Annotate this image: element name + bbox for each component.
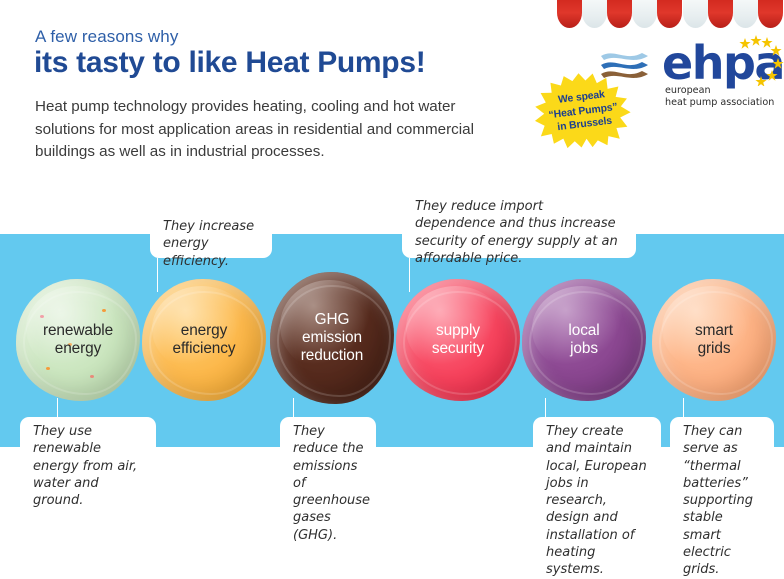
scoop-label-energy-efficiency: energy efficiency [142, 279, 266, 401]
eu-stars-icon [728, 34, 784, 86]
logo-tagline-line1: european [665, 85, 774, 97]
scoop-label-line: GHG [301, 311, 363, 329]
scoop-energy-efficiency: energy efficiency [142, 279, 266, 401]
scoop-row: renewable energy energy efficiency GHG e… [0, 234, 784, 447]
scoop-label-line: local [568, 322, 599, 340]
scoop-label-ghg-emission-reduction: GHG emission reduction [270, 272, 394, 404]
scoop-ghg-emission-reduction: GHG emission reduction [270, 272, 394, 404]
scoop-label-line: efficiency [173, 340, 236, 358]
awning-stripe [683, 0, 708, 28]
connector-line-security [409, 258, 410, 292]
awning-stripe [758, 0, 783, 28]
scoop-label-local-jobs: local jobs [522, 279, 646, 401]
scoop-label-line: security [432, 340, 484, 358]
awning-stripe [557, 0, 582, 28]
callout-supply-security: They reduce import dependence and thus i… [402, 192, 636, 258]
callout-ghg-reduction: They reduce the emissions of greenhouse … [280, 417, 376, 495]
scoop-label-smart-grids: smart grids [652, 279, 776, 401]
awning-stripe [607, 0, 632, 28]
scoop-label-line: smart [695, 322, 733, 340]
scoop-label-line: grids [695, 340, 733, 358]
logo-tagline-line2: heat pump association [665, 97, 774, 109]
connector-line-efficiency [157, 258, 158, 292]
logo-tagline: european heat pump association [665, 85, 774, 109]
scoop-label-line: energy [43, 340, 113, 358]
kicker-text: A few reasons why [35, 27, 178, 47]
scoop-label-supply-security: supply security [396, 279, 520, 401]
callout-local-jobs: They create and maintain local, European… [533, 417, 661, 531]
scoop-label-renewable-energy: renewable energy [16, 279, 140, 401]
scoop-label-line: jobs [568, 340, 599, 358]
callout-renewable-energy: They use renewable energy from air, wate… [20, 417, 156, 479]
awning-stripe [582, 0, 607, 28]
awning-stripe [657, 0, 682, 28]
page-title: its tasty to like Heat Pumps! [34, 46, 425, 80]
callout-energy-efficiency: They increase energy efficiency. [150, 212, 272, 258]
intro-paragraph: Heat pump technology provides heating, c… [35, 96, 505, 164]
scoop-label-line: supply [432, 322, 484, 340]
scoop-smart-grids: smart grids [652, 279, 776, 401]
scoop-label-line: energy [173, 322, 236, 340]
scoop-renewable-energy: renewable energy [16, 279, 140, 401]
awning-graphic [557, 0, 783, 35]
scoop-local-jobs: local jobs [522, 279, 646, 401]
brussels-badge: We speak “Heat Pumps” in Brussels [529, 66, 638, 154]
awning-stripe [733, 0, 758, 28]
scoop-label-line: renewable [43, 322, 113, 340]
awning-stripe [708, 0, 733, 28]
callout-smart-grids: They can serve as “thermal batteries” su… [670, 417, 774, 531]
scoop-label-line: emission [301, 329, 363, 347]
scoop-label-line: reduction [301, 347, 363, 365]
header-section: A few reasons why its tasty to like Heat… [0, 0, 784, 234]
awning-stripe [632, 0, 657, 28]
scoop-supply-security: supply security [396, 279, 520, 401]
